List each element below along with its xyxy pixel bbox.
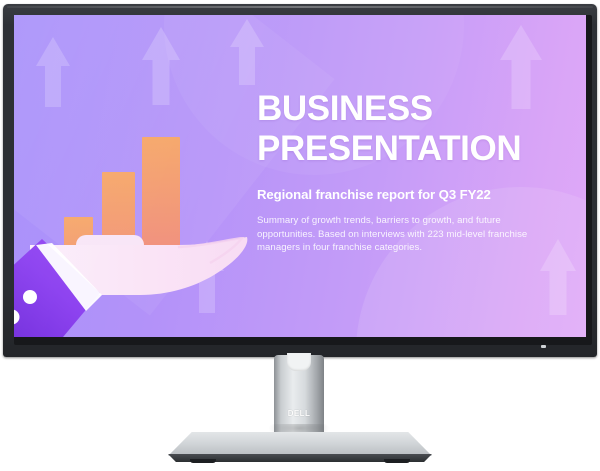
arrow-head (142, 27, 180, 60)
bezel-top-highlight (7, 6, 593, 8)
monitor-stand-base (168, 432, 432, 462)
arrow-upper-left-icon (142, 27, 180, 105)
dell-logo: DELL (274, 409, 324, 418)
sleeve-and-cuff (14, 239, 108, 337)
monitor-screen[interactable]: BUSINESS PRESENTATION Regional franchise… (14, 15, 586, 337)
arrow-head (500, 25, 542, 60)
stand-foot-right (384, 459, 410, 463)
hand-holding-growth-bars-illustration (14, 107, 249, 337)
arrow-shaft (45, 66, 61, 107)
arrow-shaft (239, 47, 255, 85)
stand-foot-left (190, 459, 216, 463)
cable-management-slot (287, 353, 311, 371)
stand-base-surface (168, 432, 432, 456)
slide-text-block: BUSINESS PRESENTATION Regional franchise… (257, 89, 569, 255)
arrow-top-left-icon (36, 37, 70, 107)
arrow-upper-mid-icon (230, 19, 264, 85)
arrow-shaft (153, 60, 170, 105)
arrow-head (36, 37, 70, 66)
dell-monitor: BUSINESS PRESENTATION Regional franchise… (0, 0, 600, 471)
slide-title: BUSINESS PRESENTATION (257, 89, 569, 169)
slide-body-text: Summary of growth trends, barriers to gr… (257, 214, 557, 255)
arrow-head (230, 19, 264, 47)
power-led-indicator (541, 345, 546, 348)
slide-subtitle: Regional franchise report for Q3 FY22 (257, 187, 569, 202)
arrow-shaft (550, 271, 567, 315)
